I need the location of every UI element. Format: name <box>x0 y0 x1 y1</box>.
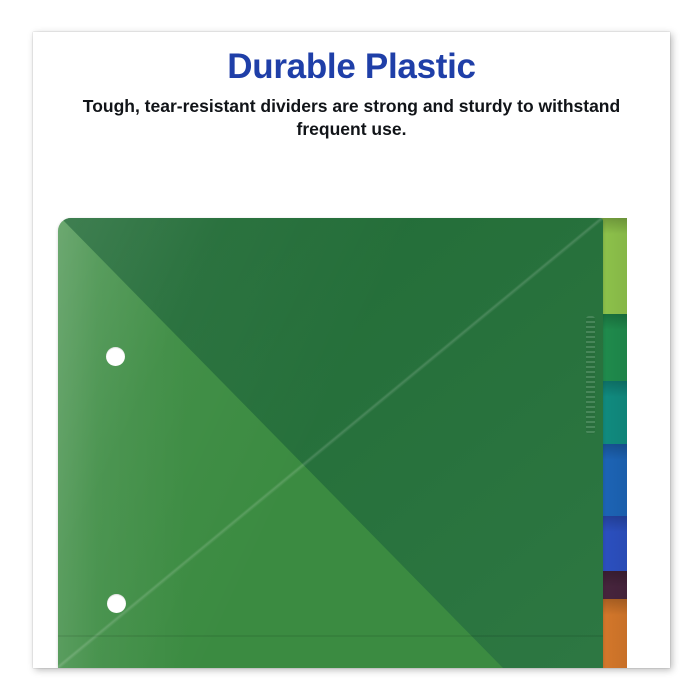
product-photo <box>33 154 670 668</box>
punch-hole-bottom <box>107 594 126 613</box>
headline-block: Durable Plastic Tough, tear-resistant di… <box>33 48 670 141</box>
page-title: Durable Plastic <box>33 48 670 85</box>
product-card: Durable Plastic Tough, tear-resistant di… <box>33 32 670 668</box>
product-image-stage: Durable Plastic Tough, tear-resistant di… <box>0 0 700 700</box>
divider-folded-flap <box>58 218 603 668</box>
green-divider-sheet <box>58 218 603 668</box>
page-subtitle: Tough, tear-resistant dividers are stron… <box>72 95 632 141</box>
punch-hole-top <box>106 347 125 366</box>
